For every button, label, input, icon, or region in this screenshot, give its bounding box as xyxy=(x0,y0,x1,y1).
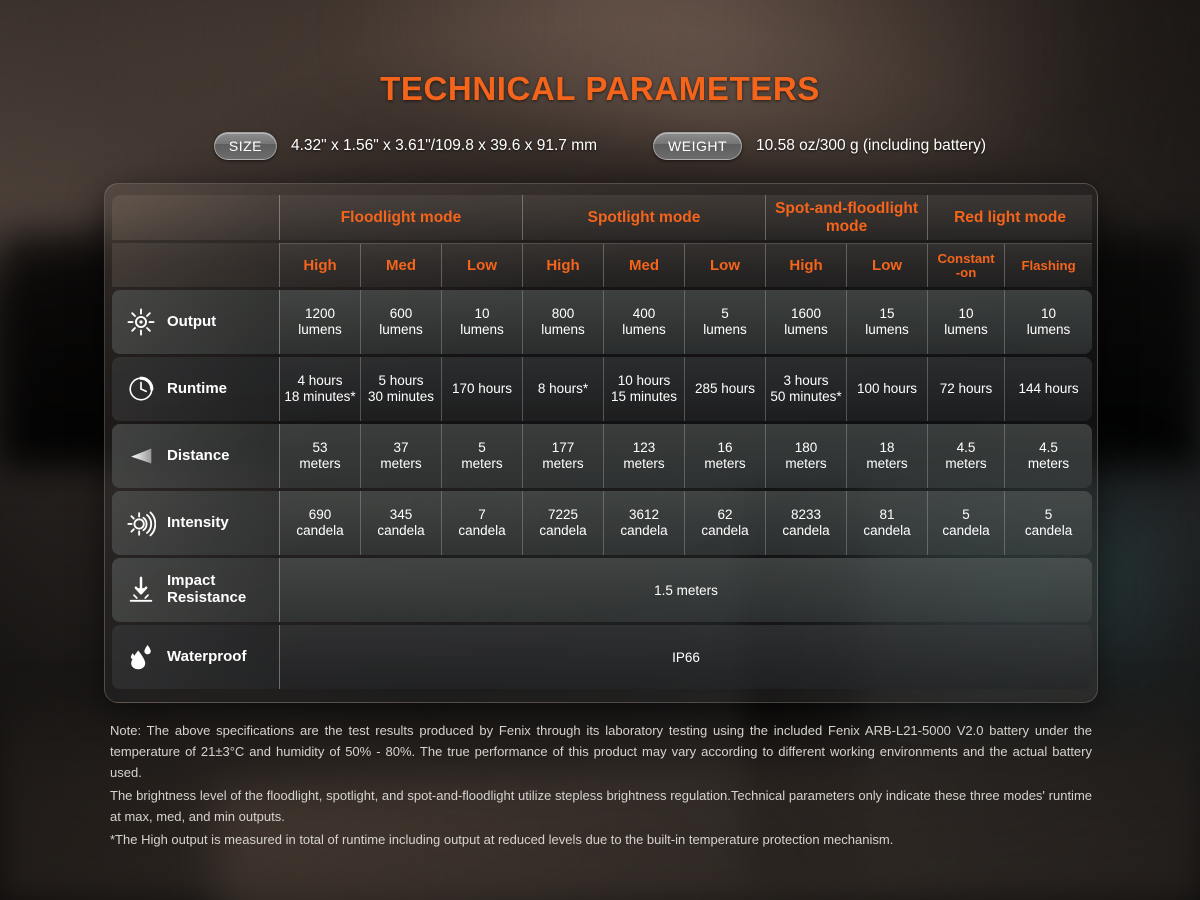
header-level-spot-med: Med xyxy=(604,243,685,287)
cell-distance-5: 16meters xyxy=(685,424,766,488)
header-level-flood-high: High xyxy=(280,243,361,287)
table-row-intensity: Intensity 690candela 345candela 7candela… xyxy=(112,491,1092,555)
size-value: 4.32" x 1.56" x 3.61"/109.8 x 39.6 x 91.… xyxy=(291,137,597,155)
cell-runtime-7: 100 hours xyxy=(847,357,928,421)
cell-distance-9: 4.5meters xyxy=(1005,424,1092,488)
cell-output-7: 15lumens xyxy=(847,290,928,354)
weight-chip: WEIGHT xyxy=(653,132,742,160)
row-label-text-distance: Distance xyxy=(167,448,230,465)
cell-intensity-9: 5candela xyxy=(1005,491,1092,555)
table-row-runtime: Runtime 4 hours18 minutes* 5 hours30 min… xyxy=(112,357,1092,421)
cell-output-0: 1200lumens xyxy=(280,290,361,354)
beam-triangle-icon xyxy=(126,441,156,471)
header-level-red-constant-on: Constant -on xyxy=(928,243,1005,287)
row-label-impact-resistance: Impact Resistance xyxy=(112,558,280,622)
cell-output-5: 5lumens xyxy=(685,290,766,354)
header-mode-red-light: Red light mode xyxy=(928,195,1092,240)
cell-runtime-9: 144 hours xyxy=(1005,357,1092,421)
header-level-spot-low: Low xyxy=(685,243,766,287)
header-mode-spotlight: Spotlight mode xyxy=(523,195,766,240)
weight-value: 10.58 oz/300 g (including battery) xyxy=(756,137,986,155)
row-label-distance: Distance xyxy=(112,424,280,488)
cell-runtime-2: 170 hours xyxy=(442,357,523,421)
cell-runtime-4: 10 hours15 minutes xyxy=(604,357,685,421)
table-row-output: Output 1200lumens 600lumens 10lumens 800… xyxy=(112,290,1092,354)
cell-intensity-5: 62candela xyxy=(685,491,766,555)
header-level-constant-line1: Constant xyxy=(937,251,994,266)
table-row-impact-resistance: Impact Resistance 1.5 meters xyxy=(112,558,1092,622)
header-mode-spot-and-floodlight: Spot-and-floodlight mode xyxy=(766,195,928,240)
cell-output-9: 10lumens xyxy=(1005,290,1092,354)
header-level-flood-med: Med xyxy=(361,243,442,287)
header-level-red-flashing: Flashing xyxy=(1005,243,1092,287)
table-row-distance: Distance 53meters 37meters 5meters 177me… xyxy=(112,424,1092,488)
row-label-text-intensity: Intensity xyxy=(167,515,229,532)
cell-intensity-0: 690candela xyxy=(280,491,361,555)
table-header-modes: Floodlight mode Spotlight mode Spot-and-… xyxy=(112,195,1092,240)
cell-output-1: 600lumens xyxy=(361,290,442,354)
row-label-runtime: Runtime xyxy=(112,357,280,421)
header-corner-blank xyxy=(112,195,280,240)
cell-impact-resistance-value: 1.5 meters xyxy=(280,558,1092,622)
cell-distance-6: 180meters xyxy=(766,424,847,488)
cell-output-6: 1600lumens xyxy=(766,290,847,354)
cell-runtime-3: 8 hours* xyxy=(523,357,604,421)
cell-intensity-6: 8233candela xyxy=(766,491,847,555)
spec-summary-row: SIZE 4.32" x 1.56" x 3.61"/109.8 x 39.6 … xyxy=(0,132,1200,160)
cell-intensity-8: 5candela xyxy=(928,491,1005,555)
header-level-combo-high: High xyxy=(766,243,847,287)
cell-runtime-8: 72 hours xyxy=(928,357,1005,421)
cell-distance-8: 4.5meters xyxy=(928,424,1005,488)
clock-icon xyxy=(126,374,156,404)
sun-output-icon xyxy=(126,307,156,337)
spec-table-card: Floodlight mode Spotlight mode Spot-and-… xyxy=(104,183,1098,703)
cell-intensity-3: 7225candela xyxy=(523,491,604,555)
row-label-text-output: Output xyxy=(167,314,216,331)
cell-runtime-6: 3 hours50 minutes* xyxy=(766,357,847,421)
cell-distance-3: 177meters xyxy=(523,424,604,488)
cell-distance-1: 37meters xyxy=(361,424,442,488)
cell-output-3: 800lumens xyxy=(523,290,604,354)
spec-size-group: SIZE 4.32" x 1.56" x 3.61"/109.8 x 39.6 … xyxy=(214,132,597,160)
row-label-text-impact-resistance: Impact Resistance xyxy=(167,573,246,607)
header-level-flood-low: Low xyxy=(442,243,523,287)
intensity-icon xyxy=(126,508,156,538)
note-1: Note: The above specifications are the t… xyxy=(110,720,1092,783)
cell-output-8: 10lumens xyxy=(928,290,1005,354)
cell-runtime-5: 285 hours xyxy=(685,357,766,421)
cell-intensity-4: 3612candela xyxy=(604,491,685,555)
cell-distance-0: 53meters xyxy=(280,424,361,488)
cell-distance-7: 18meters xyxy=(847,424,928,488)
water-drop-icon xyxy=(126,642,156,672)
impact-label-line2: Resistance xyxy=(167,589,246,606)
cell-distance-4: 123meters xyxy=(604,424,685,488)
cell-intensity-2: 7candela xyxy=(442,491,523,555)
cell-waterproof-value: IP66 xyxy=(280,625,1092,689)
size-chip: SIZE xyxy=(214,132,277,160)
impact-label-line1: Impact xyxy=(167,572,215,589)
row-label-text-waterproof: Waterproof xyxy=(167,649,246,666)
spec-weight-group: WEIGHT 10.58 oz/300 g (including battery… xyxy=(653,132,986,160)
footer-notes: Note: The above specifications are the t… xyxy=(110,720,1092,850)
header-level-combo-low: Low xyxy=(847,243,928,287)
header-mode-floodlight: Floodlight mode xyxy=(280,195,523,240)
impact-arrow-icon xyxy=(126,575,156,605)
cell-runtime-1: 5 hours30 minutes xyxy=(361,357,442,421)
table-header-levels: High Med Low High Med Low High Low Const… xyxy=(112,243,1092,287)
header-levels-blank xyxy=(112,243,280,287)
cell-runtime-0: 4 hours18 minutes* xyxy=(280,357,361,421)
note-2: The brightness level of the floodlight, … xyxy=(110,785,1092,827)
header-level-spot-high: High xyxy=(523,243,604,287)
cell-distance-2: 5meters xyxy=(442,424,523,488)
row-label-intensity: Intensity xyxy=(112,491,280,555)
header-level-constant-line2: -on xyxy=(956,265,977,280)
table-row-waterproof: Waterproof IP66 xyxy=(112,625,1092,689)
row-label-waterproof: Waterproof xyxy=(112,625,280,689)
page-title: TECHNICAL PARAMETERS xyxy=(0,0,1200,108)
note-3: *The High output is measured in total of… xyxy=(110,829,1092,850)
cell-intensity-7: 81candela xyxy=(847,491,928,555)
row-label-output: Output xyxy=(112,290,280,354)
row-label-text-runtime: Runtime xyxy=(167,381,227,398)
cell-output-2: 10lumens xyxy=(442,290,523,354)
spec-table: Floodlight mode Spotlight mode Spot-and-… xyxy=(112,192,1092,692)
cell-output-4: 400lumens xyxy=(604,290,685,354)
cell-intensity-1: 345candela xyxy=(361,491,442,555)
